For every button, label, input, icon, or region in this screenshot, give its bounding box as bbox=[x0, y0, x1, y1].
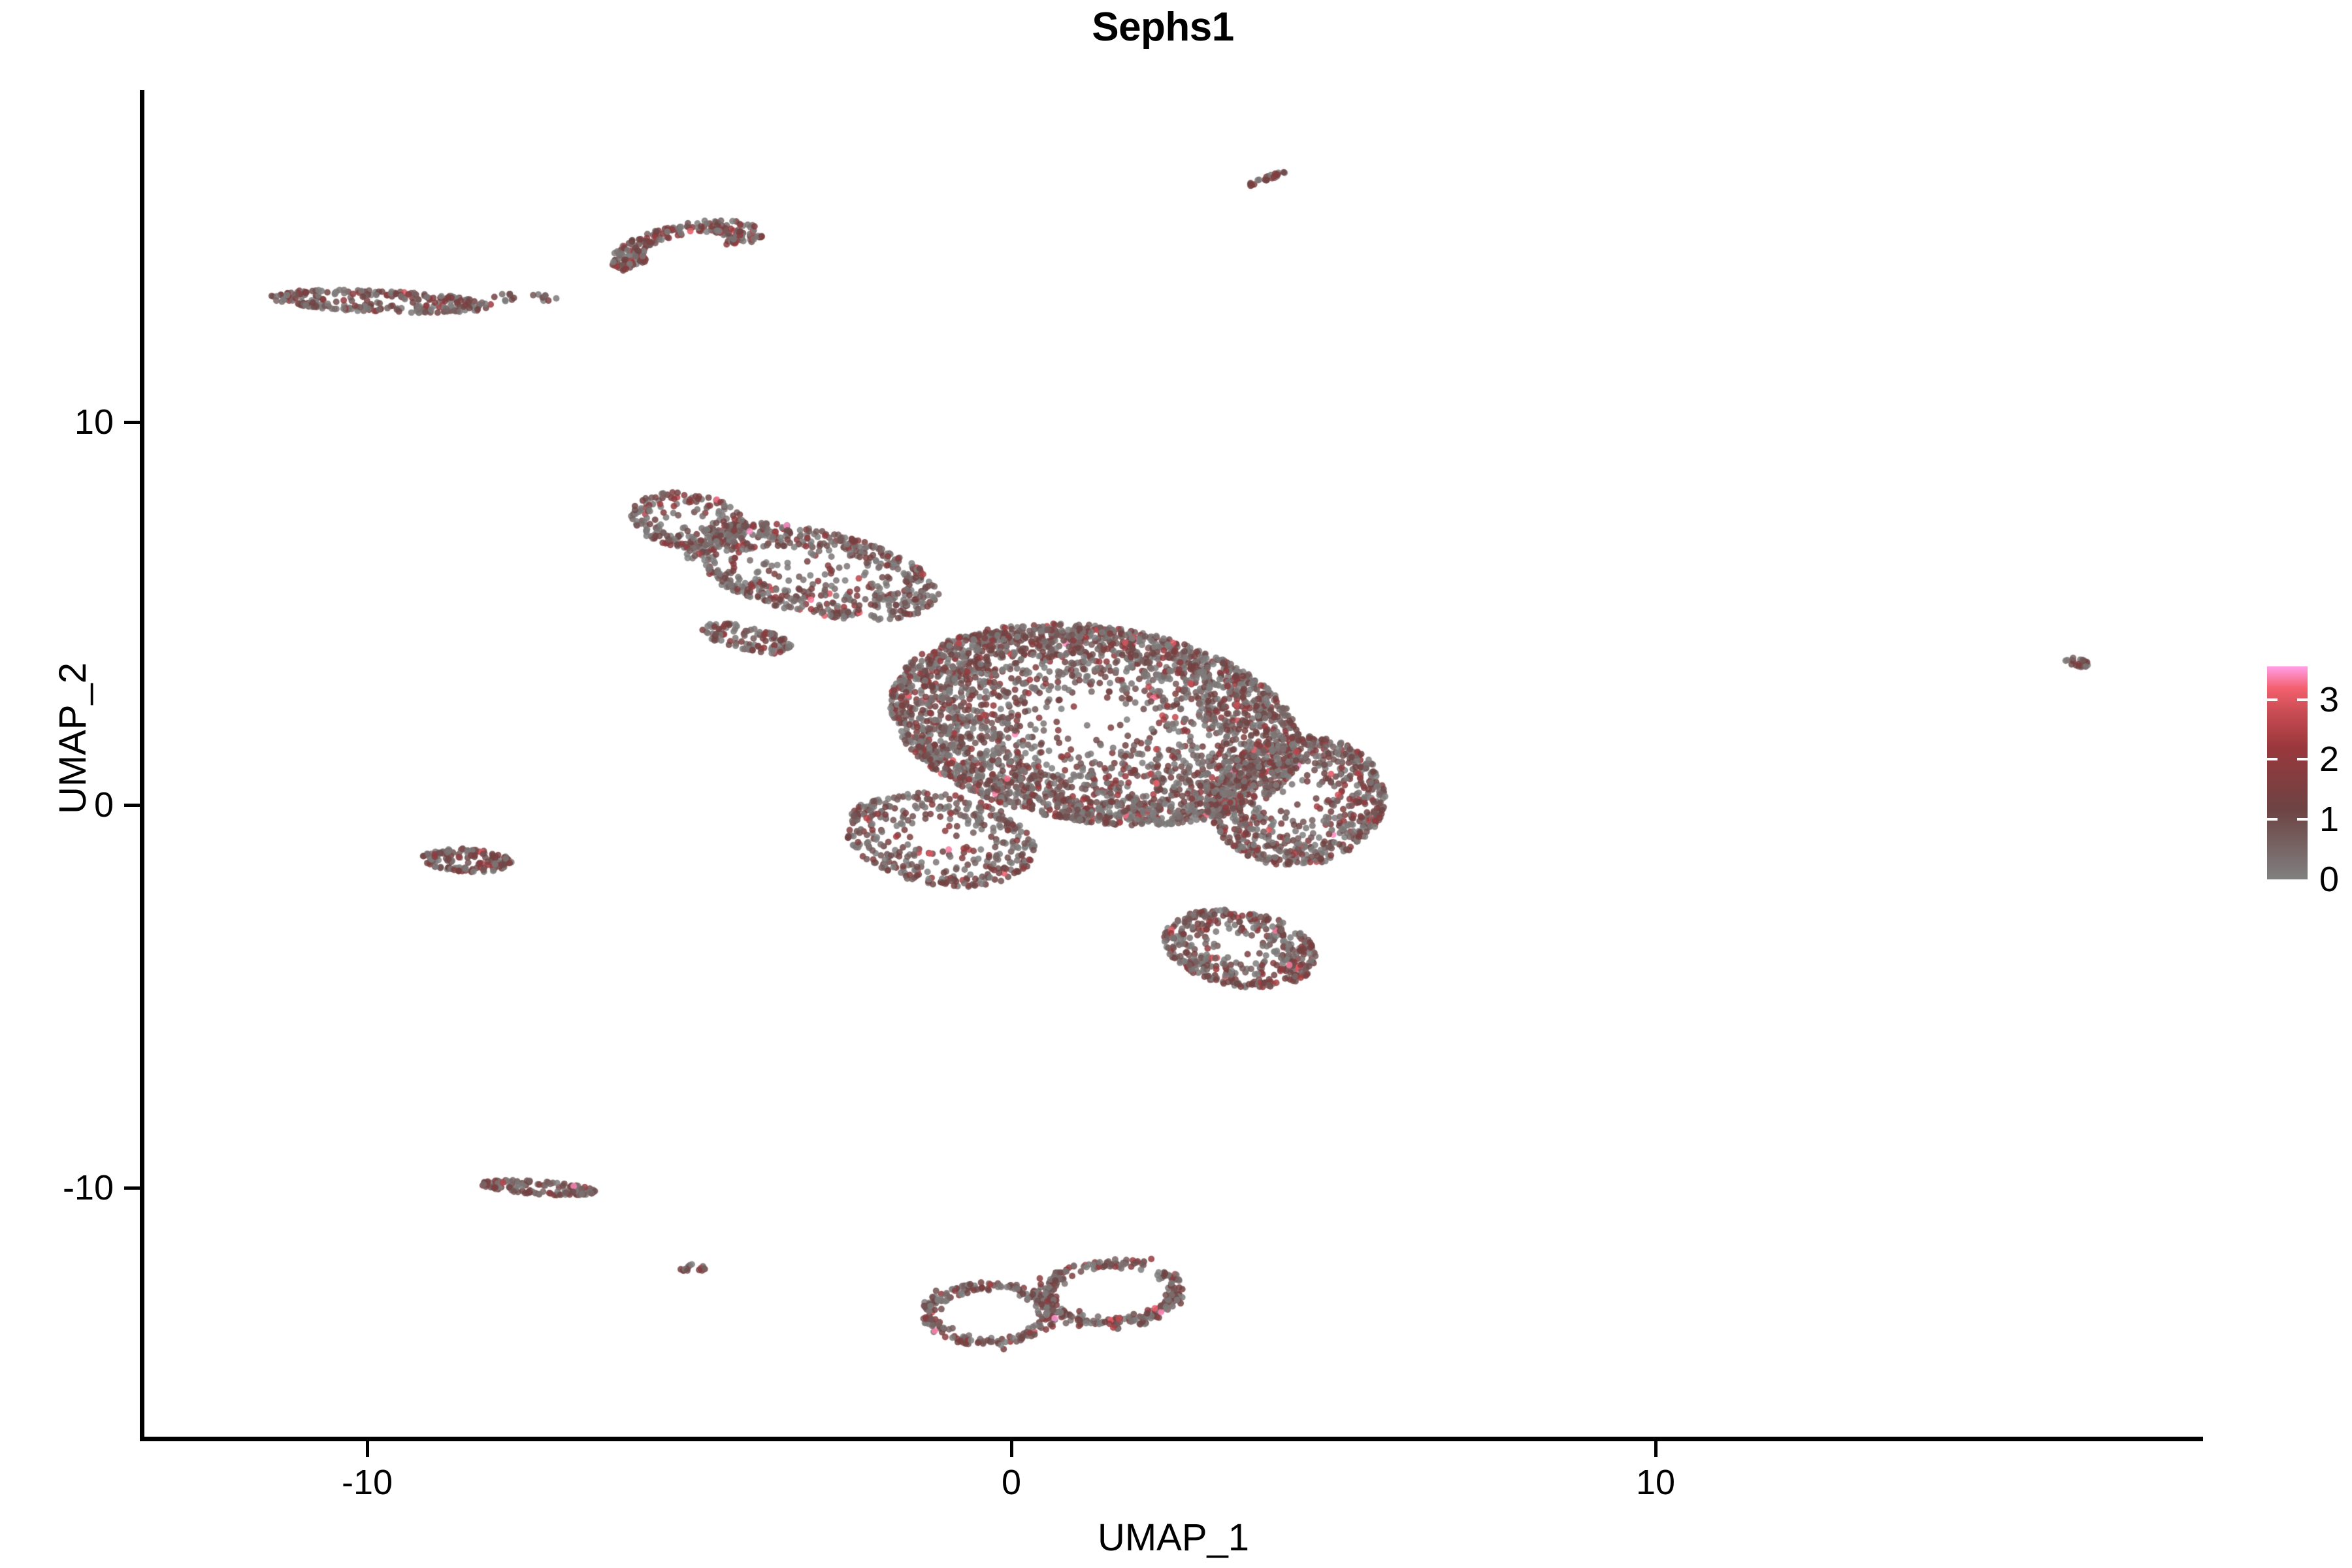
colorbar-label: 0 bbox=[2319, 859, 2339, 900]
x-tick-label: 10 bbox=[1636, 1462, 1675, 1503]
x-tick-mark bbox=[1654, 1441, 1658, 1457]
x-axis-title: UMAP_1 bbox=[144, 1516, 2203, 1560]
colorbar-label: 2 bbox=[2319, 739, 2339, 779]
x-tick-label: 0 bbox=[1002, 1462, 1021, 1503]
plot-panel bbox=[144, 90, 2203, 1439]
colorbar-label: 3 bbox=[2319, 679, 2339, 720]
colorbar-gradient bbox=[2267, 666, 2308, 879]
page-title: Sephs1 bbox=[0, 4, 2326, 50]
x-tick-label: -10 bbox=[342, 1462, 393, 1503]
legend-colorbar: 3210 bbox=[2267, 666, 2345, 889]
y-tick-mark bbox=[124, 421, 140, 424]
x-tick-mark bbox=[1010, 1441, 1013, 1457]
y-tick-mark bbox=[124, 804, 140, 807]
y-tick-mark bbox=[124, 1186, 140, 1190]
umap-feature-plot: Sephs1 -10010 100-10 UMAP_1 UMAP_2 3210 bbox=[0, 0, 2352, 1568]
y-axis-line bbox=[140, 90, 144, 1441]
scatter-points-canvas bbox=[144, 90, 2203, 1439]
x-axis-line bbox=[140, 1437, 2203, 1441]
x-tick-mark bbox=[366, 1441, 369, 1457]
y-axis-title: UMAP_2 bbox=[51, 0, 110, 1503]
colorbar-label: 1 bbox=[2319, 799, 2339, 840]
